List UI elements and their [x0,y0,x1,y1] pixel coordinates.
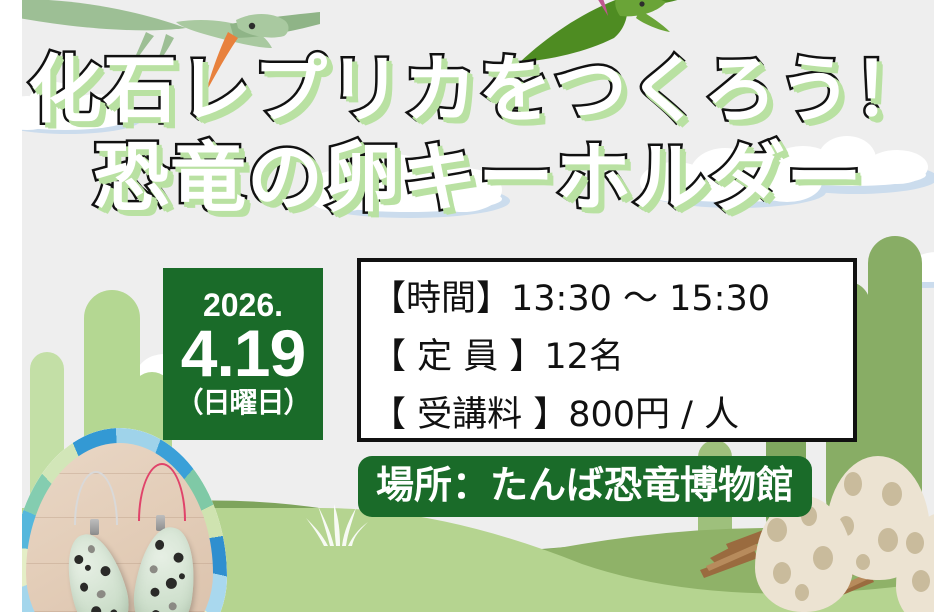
date-day: 4.19 [181,322,305,384]
date-weekday: （日曜日） [175,388,310,418]
title-line-1: 化石レプリカをつくろう！ [22,44,934,136]
detail-fee: 【 受講料 】800円 / 人 [371,386,853,444]
location-banner: 場所：たんば恐竜博物館 [358,456,812,517]
poster-title: 化石レプリカをつくろう！ 恐竜の卵キーホルダー [22,44,934,224]
date-badge: 2026. 4.19 （日曜日） [163,268,323,440]
left-margin [0,0,22,612]
right-margin [934,0,952,612]
detail-time: 【時間】13:30 ～ 15:30 [371,270,853,328]
poster-canvas: 化石レプリカをつくろう！ 恐竜の卵キーホルダー [0,0,952,612]
detail-capacity: 【 定 員 】12名 [371,328,853,386]
event-details-box: 【時間】13:30 ～ 15:30 【 定 員 】12名 【 受講料 】800円… [357,258,857,442]
title-line-2: 恐竜の卵キーホルダー [22,132,934,224]
